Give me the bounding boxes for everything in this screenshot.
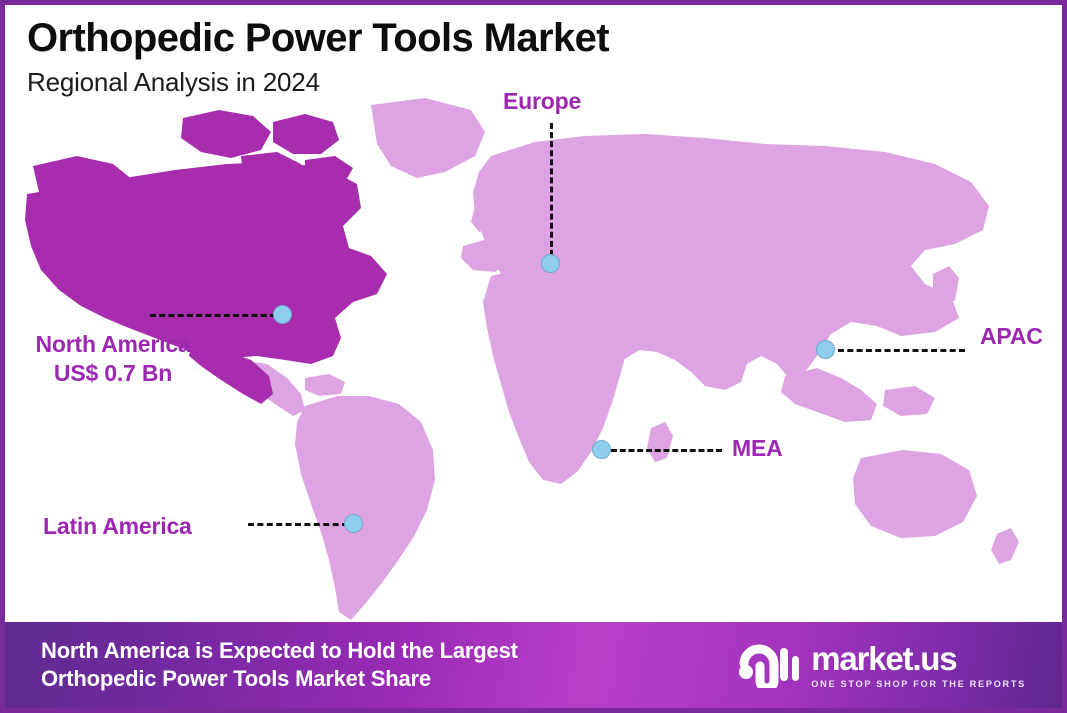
region-name-latin-america: Latin America: [43, 513, 192, 539]
region-name-north-america: North America: [35, 331, 190, 357]
header: Orthopedic Power Tools Market Regional A…: [27, 17, 609, 98]
bottom-banner: North America is Expected to Hold the La…: [5, 622, 1062, 708]
map-marker-europe[interactable]: [541, 254, 560, 273]
region-label-north-america: North America US$ 0.7 Bn: [17, 330, 209, 388]
region-label-apac: APAC: [980, 322, 1043, 351]
logo-text-block: market.us ONE STOP SHOP FOR THE REPORTS: [811, 642, 1026, 689]
page-subtitle: Regional Analysis in 2024: [27, 67, 609, 98]
region-label-latin-america: Latin America: [43, 512, 192, 541]
region-name-mea: MEA: [732, 435, 783, 461]
page-title: Orthopedic Power Tools Market: [27, 17, 609, 59]
infographic-root: Orthopedic Power Tools Market Regional A…: [0, 0, 1067, 713]
map-marker-north-america[interactable]: [273, 305, 292, 324]
map-marker-latin-america[interactable]: [344, 514, 363, 533]
leader-line-latin-america: [248, 523, 348, 526]
logo-tagline: ONE STOP SHOP FOR THE REPORTS: [811, 679, 1026, 689]
region-name-apac: APAC: [980, 323, 1043, 349]
banner-headline-line-2: Orthopedic Power Tools Market Share: [41, 665, 518, 693]
leader-line-europe: [550, 123, 553, 265]
leader-line-north-america: [150, 314, 276, 317]
map-base-regions: [241, 98, 1019, 635]
leader-line-apac: [838, 349, 965, 352]
banner-headline: North America is Expected to Hold the La…: [41, 637, 518, 693]
leader-line-mea: [611, 449, 722, 452]
region-value-north-america: US$ 0.7 Bn: [17, 359, 209, 388]
map-marker-mea[interactable]: [592, 440, 611, 459]
logo-wordmark: market.us: [811, 642, 1026, 675]
market-us-logo-icon: [737, 642, 799, 688]
brand-logo[interactable]: market.us ONE STOP SHOP FOR THE REPORTS: [737, 642, 1044, 689]
region-label-mea: MEA: [732, 434, 783, 463]
banner-headline-line-1: North America is Expected to Hold the La…: [41, 637, 518, 665]
map-marker-apac[interactable]: [816, 340, 835, 359]
